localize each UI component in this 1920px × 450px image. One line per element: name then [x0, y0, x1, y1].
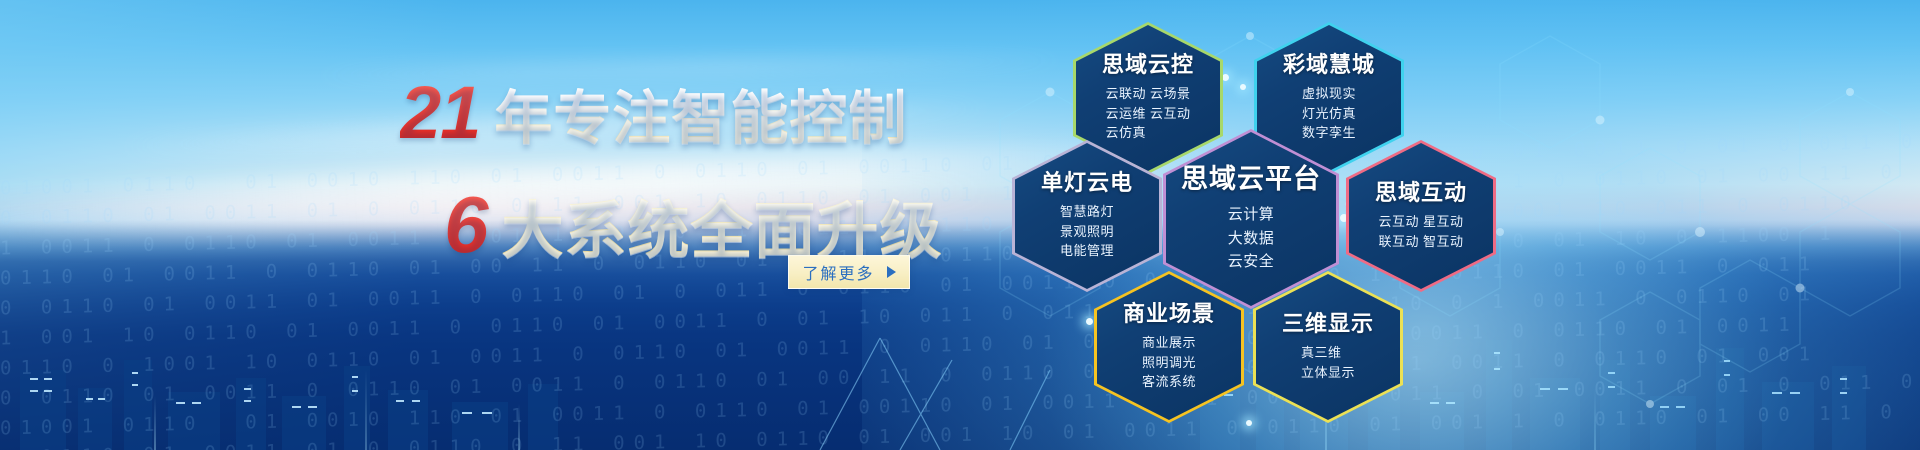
- hexagon-subitem: 大数据: [1228, 227, 1275, 250]
- hexagon-subitem: 照明调光: [1142, 353, 1196, 373]
- promo-banner: 01001 0110 01 0010 110 01 0011 0 0110 01…: [0, 0, 1920, 450]
- headline-text-line-1: 年专注智能控制: [494, 71, 907, 155]
- hexagon-subitems: 云联动 云场景云运维 云互动云仿真: [1105, 84, 1190, 143]
- hexagon-subitem: 云仿真: [1105, 123, 1190, 143]
- hexagon-subitem: 智慧路灯: [1060, 202, 1114, 222]
- hexagon-subitem: 客流系统: [1142, 372, 1196, 392]
- hexagon-subitem: 联互动 智互动: [1378, 232, 1463, 252]
- hexagon-subitem: 景观照明: [1060, 222, 1114, 242]
- learn-more-button[interactable]: 了解更多: [788, 255, 910, 289]
- hexagon-subitem: 商业展示: [1142, 333, 1196, 353]
- learn-more-label: 了解更多: [802, 260, 874, 284]
- hexagon-title: 三维显示: [1282, 312, 1374, 336]
- hexagon-title: 思域互动: [1375, 181, 1467, 205]
- hexagon-subitem: 云互动 星互动: [1378, 212, 1463, 232]
- light-beam: [518, 404, 520, 450]
- play-arrow-icon: [887, 266, 896, 278]
- hexagon-subitem: 云安全: [1228, 250, 1275, 273]
- hexagon-subitem: 虚拟现实: [1302, 84, 1356, 104]
- hexagon-subitem: 真三维: [1301, 343, 1355, 363]
- hexagon-subitem: 云运维 云互动: [1105, 104, 1190, 124]
- hexagon-title: 思域云平台: [1181, 165, 1321, 195]
- hexagon-subitems: 虚拟现实灯光仿真数字孪生: [1302, 84, 1356, 143]
- hexagon-title: 商业场景: [1123, 302, 1215, 326]
- hexagon-subitems: 真三维立体显示: [1301, 343, 1355, 382]
- hexagon-subitems: 云计算大数据云安全: [1228, 203, 1275, 273]
- headline-number-years: 21: [400, 70, 482, 155]
- light-beam: [154, 396, 156, 450]
- hexagon-subitem: 数字孪生: [1302, 123, 1356, 143]
- hexagon-subitems: 智慧路灯景观照明电能管理: [1060, 202, 1114, 261]
- headline-number-systems: 6: [444, 179, 490, 271]
- hexagon-subitem: 电能管理: [1060, 241, 1114, 261]
- headline-block: 21 年专注智能控制 6 大系统全面升级: [396, 70, 956, 271]
- hexagon-subitem: 灯光仿真: [1302, 104, 1356, 124]
- hexagon-title: 彩域慧城: [1283, 53, 1375, 77]
- light-beam: [365, 370, 367, 450]
- hexagon-title: 单灯云电: [1041, 171, 1133, 195]
- hexagon-subitems: 商业展示照明调光客流系统: [1142, 333, 1196, 392]
- headline-line-1: 21 年专注智能控制: [400, 70, 956, 155]
- hexagon-subitem: 云计算: [1228, 203, 1275, 226]
- hexagon-subitems: 云互动 星互动联互动 智互动: [1378, 212, 1463, 251]
- hexagon-title: 思域云控: [1102, 53, 1194, 77]
- hexagon-subitem: 立体显示: [1301, 363, 1355, 383]
- hexagon-subitem: 云联动 云场景: [1105, 84, 1190, 104]
